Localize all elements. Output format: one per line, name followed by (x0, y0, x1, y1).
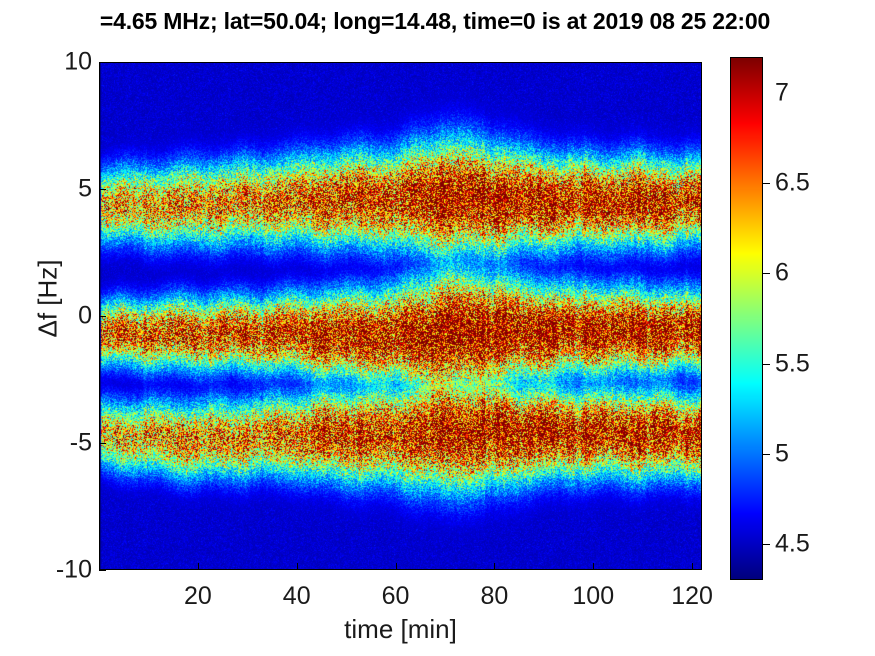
y-tick-label: -5 (0, 429, 92, 458)
x-tick-mark (297, 563, 298, 570)
x-tick-mark (396, 563, 397, 570)
x-tick-label: 20 (158, 582, 238, 611)
x-tick-mark (494, 563, 495, 570)
x-tick-label: 100 (553, 582, 633, 611)
x-tick-label: 60 (356, 582, 436, 611)
colorbar-tick-mark (763, 544, 770, 545)
colorbar-tick-mark (763, 364, 770, 365)
y-tick-mark (99, 570, 106, 571)
x-tick-mark (692, 563, 693, 570)
y-tick-label: 0 (0, 302, 92, 331)
colorbar-tick-label: 5.5 (775, 349, 810, 378)
y-tick-mark (99, 443, 106, 444)
colorbar-tick-mark (763, 183, 770, 184)
y-axis-label: Δf [Hz] (33, 199, 64, 399)
colorbar-gradient (731, 58, 762, 579)
y-tick-mark (99, 189, 106, 190)
x-tick-mark (198, 563, 199, 570)
colorbar-tick-label: 7 (775, 79, 789, 108)
colorbar-tick-label: 5 (775, 439, 789, 468)
x-tick-label: 40 (257, 582, 337, 611)
colorbar[interactable] (730, 57, 763, 580)
x-tick-label: 80 (454, 582, 534, 611)
colorbar-tick-mark (763, 454, 770, 455)
colorbar-tick-label: 4.5 (775, 529, 810, 558)
x-axis-label: time [min] (99, 614, 702, 645)
spectrogram-axes[interactable] (99, 62, 702, 570)
y-tick-mark (99, 316, 106, 317)
x-tick-label: 120 (652, 582, 732, 611)
colorbar-tick-mark (763, 273, 770, 274)
spectrogram-image (99, 62, 702, 570)
y-tick-label: -10 (0, 556, 92, 585)
y-tick-label: 10 (0, 48, 92, 77)
x-tick-mark (593, 563, 594, 570)
figure-canvas: =4.65 MHz; lat=50.04; long=14.48, time=0… (0, 0, 875, 656)
colorbar-tick-label: 6.5 (775, 169, 810, 198)
y-tick-label: 5 (0, 175, 92, 204)
colorbar-tick-label: 6 (775, 259, 789, 288)
y-tick-mark (99, 62, 106, 63)
figure-title: =4.65 MHz; lat=50.04; long=14.48, time=0… (0, 8, 875, 35)
